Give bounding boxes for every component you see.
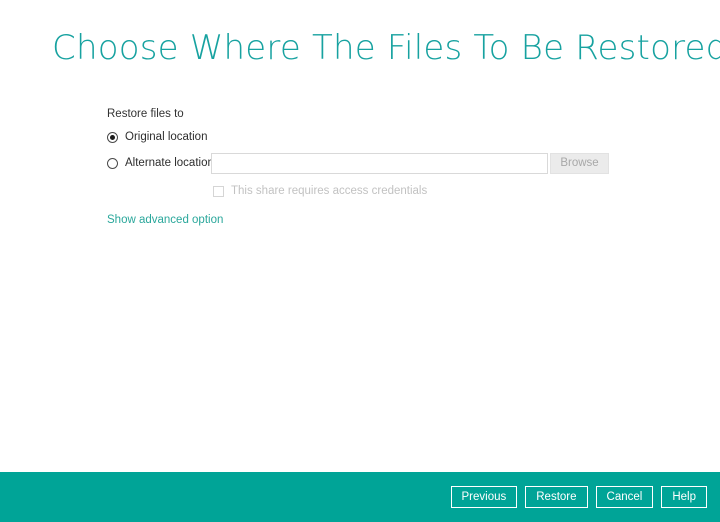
- radio-alternate-location-label: Alternate location: [125, 156, 214, 170]
- alternate-location-label-wrap[interactable]: Alternate location: [107, 156, 211, 170]
- help-button[interactable]: Help: [661, 486, 707, 508]
- credentials-checkbox-icon[interactable]: [213, 186, 224, 197]
- alternate-location-path-input[interactable]: [211, 153, 548, 174]
- radio-row-original-location[interactable]: Original location: [107, 126, 627, 148]
- credentials-checkbox-row[interactable]: This share requires access credentials: [213, 184, 627, 198]
- footer-bar: Previous Restore Cancel Help: [0, 472, 720, 522]
- restore-button[interactable]: Restore: [525, 486, 587, 508]
- previous-button[interactable]: Previous: [451, 486, 518, 508]
- page-title: Choose Where The Files To Be Restored: [52, 26, 720, 70]
- credentials-checkbox-label: This share requires access credentials: [231, 184, 427, 198]
- browse-button[interactable]: Browse: [550, 153, 609, 174]
- radio-original-location-icon[interactable]: [107, 132, 118, 143]
- radio-original-location-label: Original location: [125, 130, 207, 144]
- radio-alternate-location-icon[interactable]: [107, 158, 118, 169]
- cancel-button[interactable]: Cancel: [596, 486, 654, 508]
- radio-row-alternate-location[interactable]: Alternate location Browse: [107, 151, 627, 175]
- restore-files-to-label: Restore files to: [107, 107, 627, 122]
- restore-location-form: Restore files to Original location Alter…: [107, 107, 627, 228]
- show-advanced-option-link[interactable]: Show advanced option: [107, 213, 223, 228]
